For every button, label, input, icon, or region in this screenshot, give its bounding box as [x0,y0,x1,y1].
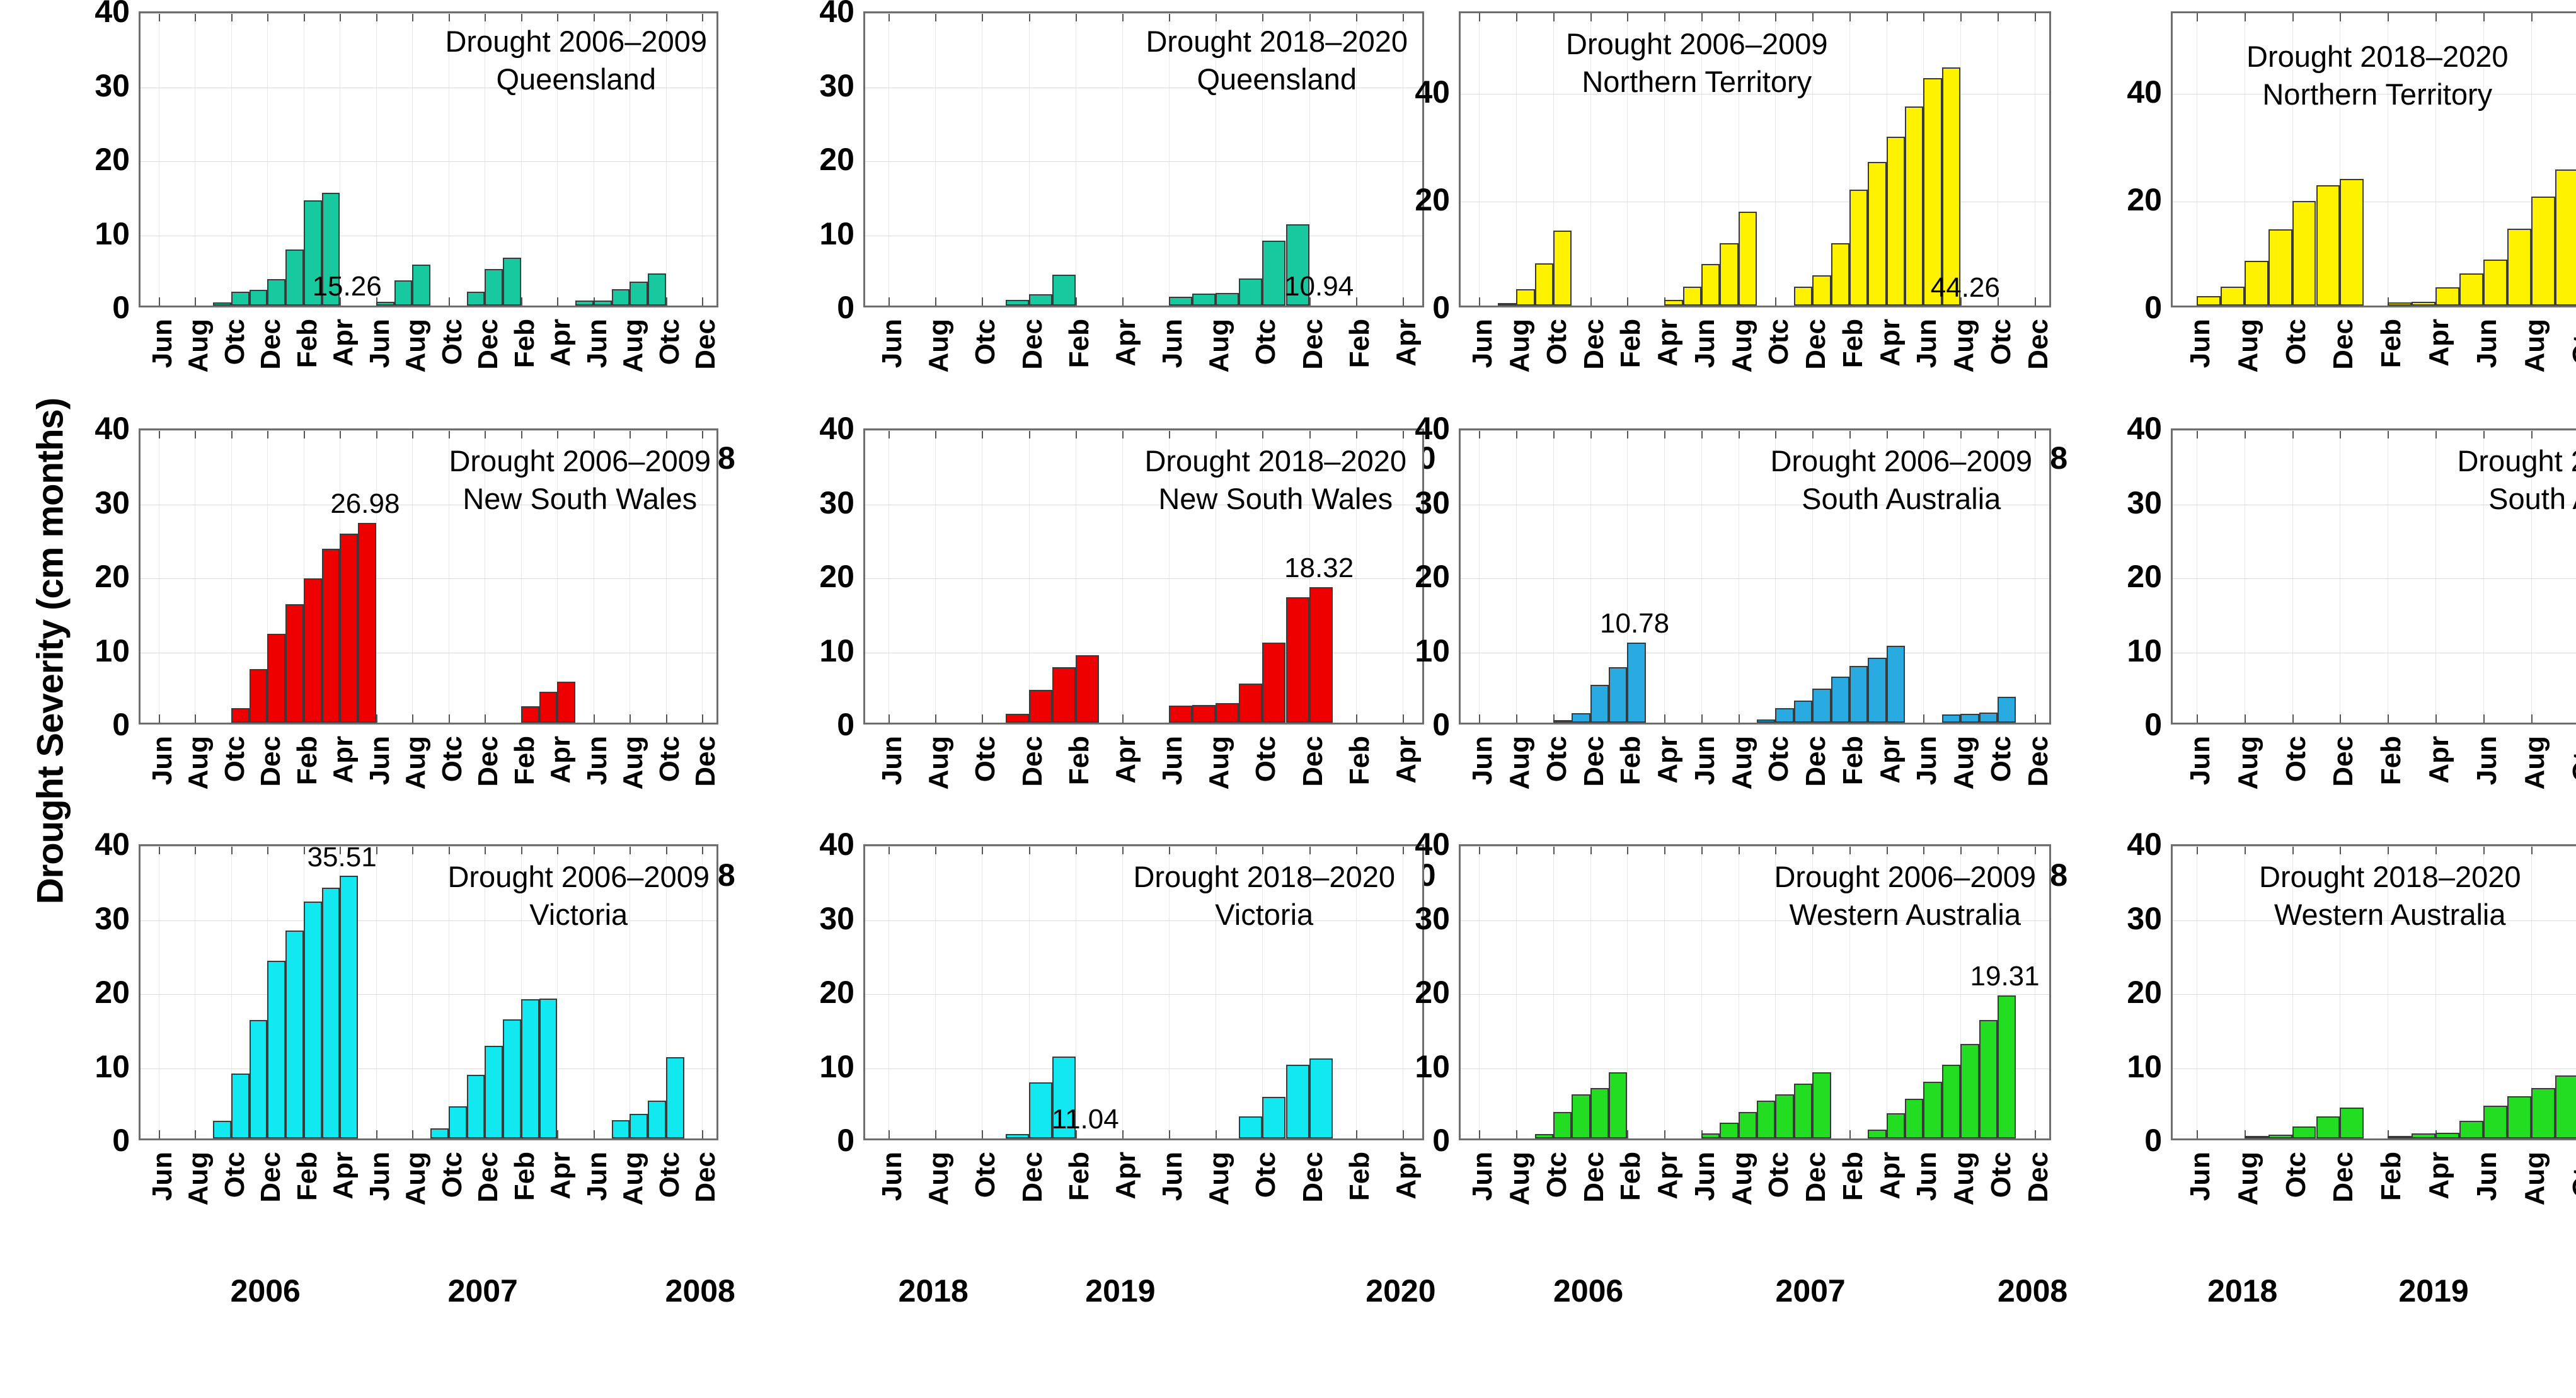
bar-series [2173,430,2576,723]
y-tick-label: 10 [95,633,130,669]
y-tick-label: 40 [1415,410,1450,447]
bar [1006,714,1029,723]
x-tick-label: Apr [1110,736,1142,784]
bar [503,1019,521,1138]
bar [1535,1134,1553,1138]
x-tick-label: Feb [1344,1152,1376,1201]
bar [2245,261,2268,306]
x-tick-label: Otc [1986,319,2017,365]
y-tick-label: 20 [1415,181,1450,218]
x-tick-label: Apr [1875,319,1906,367]
bar [1006,1134,1029,1138]
x-tick-label: Aug [1504,319,1536,373]
bar [630,282,648,306]
bar [557,682,575,723]
x-tick-label: Otc [1986,1152,2017,1198]
x-tick-label: Feb [2376,1152,2407,1201]
bar-series [141,846,716,1138]
chart-panel-nsw-2006: 010203040JunAugOtcDecFebAprJunAugOtcDecF… [139,428,718,725]
bar [1029,294,1052,306]
plot-area [863,428,1424,725]
x-tick-label: Apr [328,736,359,784]
bar [2459,1121,2483,1138]
y-tick-label: 20 [95,974,130,1011]
bar-series [1461,846,2049,1138]
bar [1029,1082,1052,1138]
x-tick-label: Aug [618,319,649,373]
bar [1286,597,1309,723]
x-tick-label: Apr [1391,736,1422,784]
chart-panel-vic-2006: 010203040JunAugOtcDecFebAprJunAugOtcDecF… [139,844,718,1140]
y-tick-label: 0 [112,1122,130,1159]
bar [2340,1108,2364,1138]
bar [2531,197,2555,306]
y-tick-label: 0 [837,706,854,743]
y-tick-label: 30 [819,67,854,104]
bar [1960,714,1979,723]
x-tick-label: Aug [923,736,955,790]
bar [539,999,558,1138]
y-tick-label: 40 [95,410,130,447]
bar [1868,1130,1886,1138]
bar [1942,714,1960,723]
x-tick-label: Otc [2280,1152,2312,1198]
x-tick-label: Dec [255,736,287,787]
x-tick-label: Jun [147,1152,178,1201]
x-tick-label: Aug [923,319,955,373]
bar [1739,212,1757,306]
x-tick-label: Otc [219,736,251,782]
bar [1887,1113,1905,1138]
bar [2435,1133,2459,1138]
x-tick-label: Jun [364,1152,396,1201]
bar [1831,243,1849,306]
plot-area [863,844,1424,1140]
x-tick-label: Feb [1837,319,1869,368]
x-tick-label: Aug [1204,736,1235,790]
bar [1701,1133,1720,1138]
x-tick-label: Jun [1157,1152,1188,1201]
chart-panel-qld-2006: 010203040JunAugOtcDecFebAprJunAugOtcDecF… [139,11,718,307]
x-tick-label: Feb [1615,1152,1647,1201]
bar [1887,137,1905,306]
x-tick-label: Aug [1504,736,1536,790]
bar [358,523,376,723]
bar [2412,1133,2435,1138]
bar [213,1121,231,1138]
bar [612,1120,630,1138]
bar [2268,1135,2292,1138]
x-tick-label: Dec [255,319,287,370]
x-tick-label: Otc [1250,1152,1282,1198]
bar [666,1057,684,1138]
x-tick-label: Otc [1250,319,1282,365]
bar [1262,1097,1285,1138]
bar-series [865,846,1422,1138]
y-tick-label: 20 [2127,558,2162,595]
x-tick-label: Otc [654,1152,686,1198]
bar-series [1461,430,2049,723]
x-tick-label: Jun [364,736,396,785]
y-tick-label: 20 [819,141,854,178]
bar [1609,667,1627,723]
bar [2245,1136,2268,1138]
x-tick-label: Otc [437,736,468,782]
x-tick-label: Jun [364,319,396,368]
y-tick-label: 30 [1415,484,1450,521]
x-tick-label: Feb [1837,736,1869,785]
y-tick-label: 20 [2127,974,2162,1011]
bar [1701,264,1720,306]
bar [1192,705,1216,723]
x-axis-year-label: 2020 [1366,1273,1435,1309]
bar [1516,289,1534,306]
bar [1905,106,1923,306]
x-tick-label: Aug [618,1152,649,1206]
x-tick-label: Jun [877,1152,908,1201]
bar [231,292,250,306]
x-tick-label: Aug [2233,1152,2264,1206]
x-tick-label: Otc [654,319,686,365]
bar [1309,1058,1333,1138]
bar [2388,1136,2412,1138]
x-tick-label: Dec [1017,1152,1049,1203]
bar [250,1020,268,1138]
bar [1286,1065,1309,1139]
x-tick-label: Feb [509,1152,541,1201]
x-tick-label: Dec [690,736,722,787]
x-tick-label: Otc [437,319,468,365]
x-tick-label: Otc [2280,736,2312,782]
bar [1309,587,1333,723]
x-tick-label: Jun [877,736,908,785]
x-tick-label: Aug [923,1152,955,1206]
bar [1831,677,1849,723]
bar [322,549,340,723]
y-tick-label: 30 [2127,484,2162,521]
bar [1812,689,1831,723]
bar [1262,241,1285,306]
x-axis-year-label: 2007 [448,1273,518,1309]
x-tick-label: Jun [147,736,178,785]
x-tick-label: Dec [1800,736,1832,787]
x-tick-label: Jun [2185,1152,2216,1201]
x-tick-label: Jun [582,1152,613,1201]
x-tick-label: Feb [1615,319,1647,368]
bar [267,279,285,306]
bar [1887,646,1905,723]
chart-panel-sa-2006: 010203040JunAugOtcDecFebAprJunAugOtcDecF… [1459,428,2051,725]
bar [1553,1112,1572,1138]
bar [1192,294,1216,306]
y-tick-label: 30 [819,484,854,521]
bar [340,876,358,1138]
x-tick-label: Feb [2376,736,2407,785]
x-tick-label: Aug [1727,319,1758,373]
y-tick-label: 0 [112,706,130,743]
x-tick-label: Jun [582,736,613,785]
y-tick-label: 40 [1415,826,1450,862]
bar [2388,302,2412,306]
bar [322,888,340,1138]
x-tick-label: Otc [1986,736,2017,782]
x-tick-label: Apr [1875,1152,1906,1200]
x-tick-label: Otc [1763,1152,1795,1198]
x-tick-label: Apr [2424,1152,2455,1200]
bar [630,1114,648,1138]
y-tick-label: 10 [2127,1048,2162,1085]
x-tick-label: Apr [1875,736,1906,784]
plot-area [2171,11,2576,307]
bar [2435,287,2459,306]
bar [1942,67,1960,306]
x-tick-label: Aug [1727,1152,1758,1206]
plot-area [863,11,1424,307]
bar [1998,995,2016,1138]
y-tick-label: 0 [837,289,854,326]
x-tick-label: Feb [1064,319,1095,368]
bar [2316,185,2340,306]
bar [1052,1057,1076,1138]
bar [1979,713,1998,723]
bar [1794,1084,1812,1138]
x-tick-label: Feb [292,736,323,785]
bar [2197,296,2221,306]
x-tick-label: Jun [1911,736,1943,785]
x-tick-label: Dec [1297,319,1329,370]
x-tick-label: Jun [2185,319,2216,368]
plot-area [2171,428,2576,725]
x-tick-label: Jun [2185,736,2216,785]
bar [539,692,558,723]
y-tick-label: 0 [2144,289,2162,326]
bar [2531,1088,2555,1138]
x-axis-year-label: 2018 [2207,1273,2277,1309]
bar [1664,300,1682,306]
bar [1849,666,1868,723]
bar [1720,243,1738,306]
bar [1169,706,1192,723]
x-tick-label: Jun [1911,319,1943,368]
y-tick-label: 0 [112,289,130,326]
bar-series [865,13,1422,306]
bar [394,280,413,306]
bar [594,301,612,306]
bar [213,302,231,306]
bar [1572,1094,1590,1139]
bar [648,273,666,306]
bar [304,902,322,1138]
bar [1923,78,1941,306]
y-tick-label: 30 [1415,900,1450,937]
plot-area [2171,844,2576,1140]
bar-series [865,430,1422,723]
x-tick-label: Jun [2471,319,2503,368]
x-axis-year-label: 2007 [1776,1273,1846,1309]
y-tick-label: 10 [819,1048,854,1085]
x-tick-label: Jun [2471,1152,2503,1201]
bar [1812,275,1831,306]
x-axis-year-label: 2008 [665,1273,735,1309]
bar-series [1461,13,2049,306]
x-tick-label: Otc [2567,736,2576,782]
bar [1239,1116,1262,1138]
x-tick-label: Aug [183,1152,214,1206]
x-tick-label: Aug [400,736,432,790]
bar [1942,1065,1960,1139]
plot-area [139,428,718,725]
bar [2412,302,2435,306]
x-tick-label: Aug [1948,1152,1980,1206]
x-tick-label: Jun [582,319,613,368]
bar [1812,1072,1831,1138]
x-tick-label: Apr [328,1152,359,1200]
bar [1609,1072,1627,1138]
y-tick-label: 0 [1432,289,1450,326]
bar [1553,231,1572,306]
x-tick-label: Feb [1064,736,1095,785]
x-tick-label: Otc [437,1152,468,1198]
bar [1775,1094,1793,1139]
bar [1794,287,1812,306]
bar [2316,1116,2340,1138]
x-tick-label: Feb [1344,319,1376,368]
bar [1627,643,1645,723]
bar [485,269,503,306]
x-tick-label: Apr [545,1152,577,1200]
x-tick-label: Dec [2328,319,2359,370]
bar [1169,297,1192,306]
bar [1905,1099,1923,1138]
x-tick-label: Apr [1652,319,1684,367]
x-tick-label: Apr [545,319,577,367]
x-axis-year-label: 2019 [2398,1273,2468,1309]
bar [1052,275,1076,306]
y-tick-label: 40 [95,0,130,30]
y-tick-label: 0 [2144,706,2162,743]
x-tick-label: Dec [1578,1152,1610,1203]
x-tick-label: Otc [2567,319,2576,365]
chart-panel-vic-2018: 010203040JunAugOtcDecFebAprJunAugOtcDecF… [863,844,1424,1140]
x-tick-label: Jun [147,319,178,368]
bar [1757,1101,1775,1138]
x-tick-label: Dec [255,1152,287,1203]
x-tick-label: Apr [2424,319,2455,367]
x-tick-label: Aug [400,319,432,373]
x-tick-label: Dec [1800,319,1832,370]
bar [1868,162,1886,306]
plot-area [1459,11,2051,307]
bar [1239,684,1262,723]
y-tick-label: 30 [95,484,130,521]
x-tick-label: Aug [1504,1152,1536,1206]
x-tick-label: Jun [2471,736,2503,785]
bar [2507,229,2531,306]
x-tick-label: Dec [1297,1152,1329,1203]
bar [430,1128,449,1138]
x-tick-label: Otc [1763,319,1795,365]
x-tick-label: Otc [970,736,1001,782]
bar [1720,1123,1738,1138]
bar [285,249,304,306]
x-tick-label: Dec [473,736,504,787]
bar [231,708,250,723]
bar [412,265,430,306]
bar [1076,655,1099,723]
bar-series [2173,13,2576,306]
x-tick-label: Otc [1541,1152,1573,1198]
x-tick-label: Jun [1467,1152,1498,1201]
bar [2507,1096,2531,1138]
x-tick-label: Aug [2519,1152,2551,1206]
plot-area [1459,428,2051,725]
bar [285,604,304,723]
bar [2292,1126,2316,1138]
y-tick-label: 40 [95,826,130,862]
bar [1960,1044,1979,1138]
y-tick-label: 10 [95,1048,130,1085]
x-tick-label: Dec [1297,736,1329,787]
bar [1590,685,1609,723]
bar [1572,713,1590,723]
y-tick-label: 10 [1415,1048,1450,1085]
x-tick-label: Aug [1948,319,1980,373]
bar [1262,643,1285,723]
x-tick-label: Apr [328,319,359,367]
bar [467,292,485,306]
y-tick-label: 20 [819,974,854,1011]
plot-area [139,844,718,1140]
x-tick-label: Feb [1837,1152,1869,1201]
bar [1923,1082,1941,1138]
bar [1757,719,1775,723]
x-tick-label: Dec [1578,736,1610,787]
x-axis-year-label: 2006 [1553,1273,1623,1309]
y-tick-label: 40 [819,410,854,447]
bar [2221,287,2245,306]
bar [231,1074,250,1138]
bar [267,961,285,1138]
x-tick-label: Apr [545,736,577,784]
x-tick-label: Otc [2280,319,2312,365]
bar [2292,201,2316,306]
bar [1739,1112,1757,1138]
x-tick-label: Feb [292,319,323,368]
x-axis-year-label: 2006 [231,1273,301,1309]
y-tick-label: 20 [95,558,130,595]
x-axis-year-label: 2019 [1085,1273,1155,1309]
bar [1006,300,1029,306]
x-tick-label: Dec [2023,319,2054,370]
x-tick-label: Jun [1157,319,1188,368]
chart-panel-sa-2018: 010203040JunAugOtcDecFebAprJunAugOtcDecF… [2171,428,2576,725]
x-tick-label: Apr [1652,736,1684,784]
bar [2340,179,2364,306]
x-tick-label: Dec [473,1152,504,1203]
x-tick-label: Aug [183,319,214,373]
x-tick-label: Apr [1391,1152,1422,1200]
bar [376,302,394,306]
x-tick-label: Jun [1689,319,1721,368]
chart-panel-nt-2006: 02040JunAugOtcDecFebAprJunAugOtcDecFebAp… [1459,11,2051,307]
x-tick-label: Aug [400,1152,432,1206]
bar [485,1046,503,1138]
bar [1052,667,1076,723]
bar [1216,293,1239,306]
bar [285,931,304,1138]
x-tick-label: Aug [2233,736,2264,790]
x-axis-year-label: 2008 [1998,1273,2067,1309]
